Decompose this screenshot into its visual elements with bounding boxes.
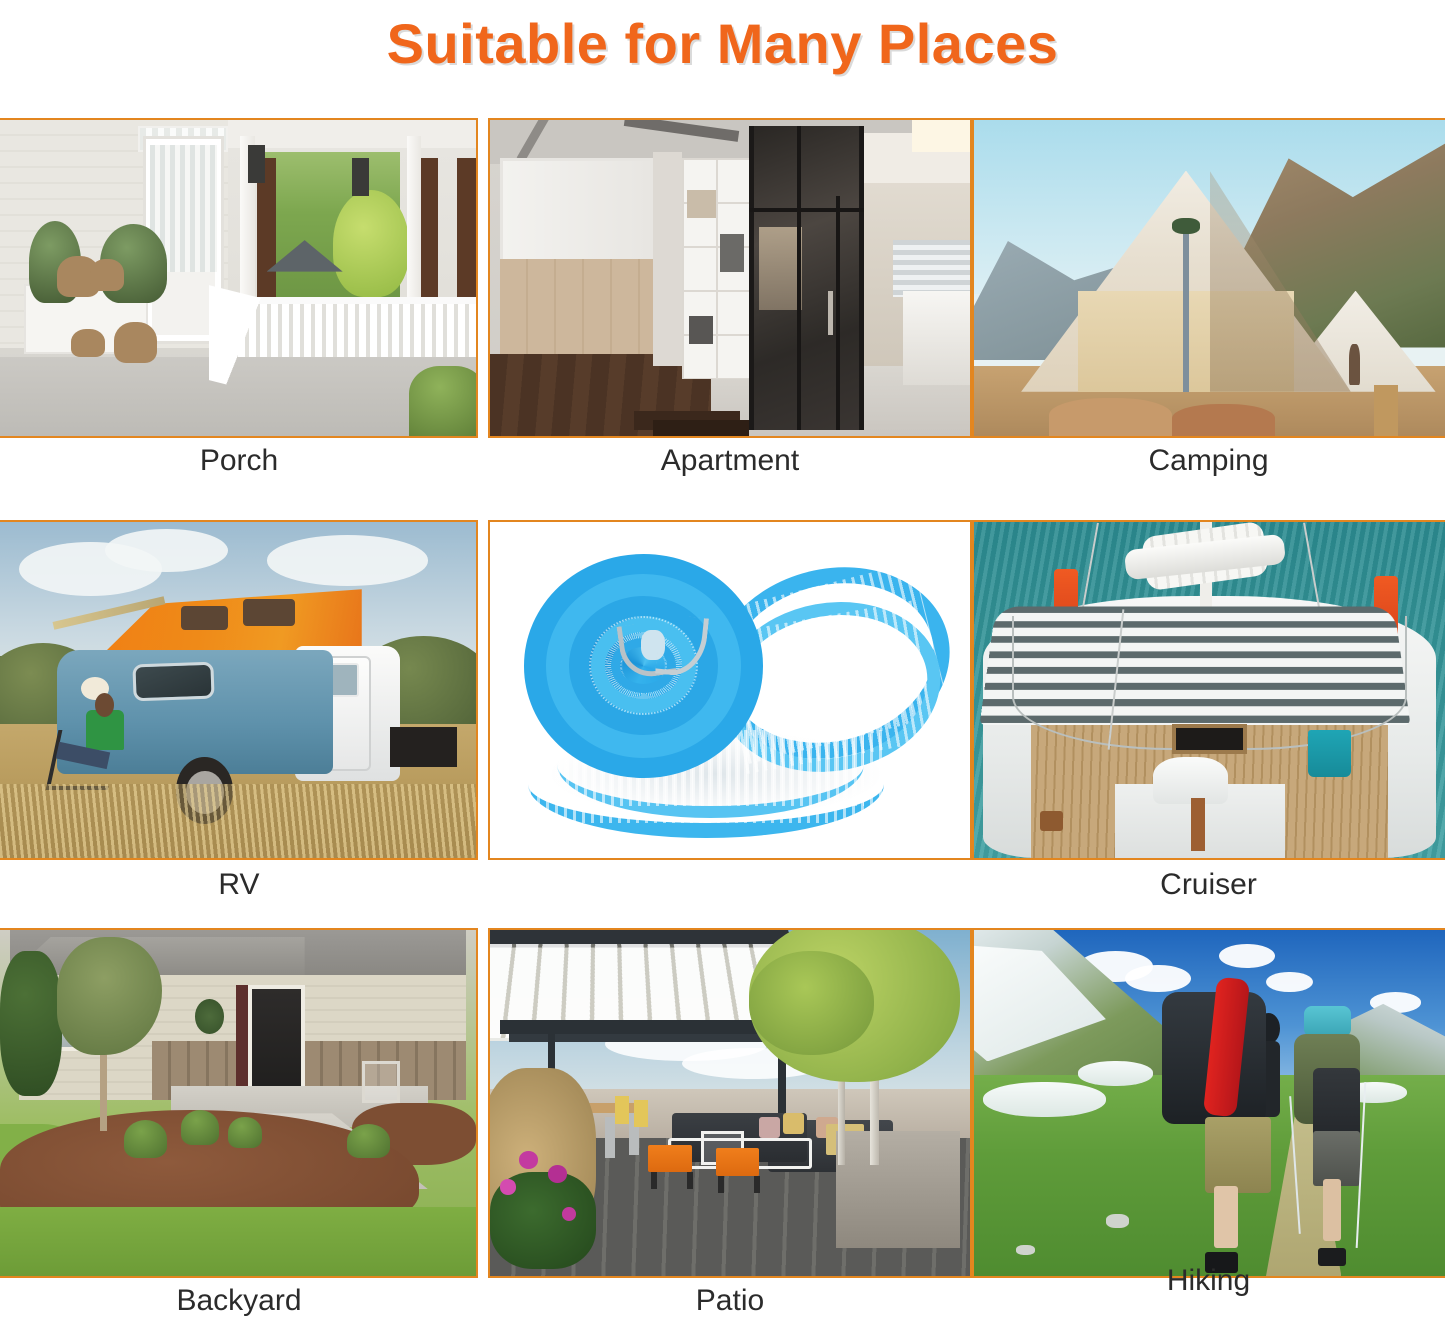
grid-row-1: Porch xyxy=(0,118,1445,438)
grid-row-3: Backyard xyxy=(0,928,1445,1278)
caption-apartment: Apartment xyxy=(488,444,972,478)
grid-cell-camping[interactable]: Camping xyxy=(972,118,1445,438)
patio-photo xyxy=(488,928,972,1278)
porch-photo xyxy=(0,118,478,438)
grid-row-2: RV xyxy=(0,520,1445,860)
cruiser-photo xyxy=(972,520,1445,860)
caption-camping: Camping xyxy=(972,444,1445,478)
product-photo xyxy=(488,520,972,860)
rv-photo xyxy=(0,520,478,860)
camping-photo xyxy=(972,118,1445,438)
product-infographic: Suitable for Many Places xyxy=(0,0,1445,1308)
scene-grid: Porch xyxy=(0,118,1445,1308)
caption-hiking: Hiking xyxy=(972,1264,1445,1298)
apartment-photo xyxy=(488,118,972,438)
caption-cruiser: Cruiser xyxy=(972,868,1445,902)
backyard-photo xyxy=(0,928,478,1278)
grid-cell-apartment[interactable]: Apartment xyxy=(488,118,972,438)
caption-porch: Porch xyxy=(0,444,478,478)
caption-patio: Patio xyxy=(488,1284,972,1318)
caption-backyard: Backyard xyxy=(0,1284,478,1318)
grid-cell-patio[interactable]: Patio xyxy=(488,928,972,1278)
hiking-photo xyxy=(972,928,1445,1278)
page-title: Suitable for Many Places xyxy=(387,11,1059,76)
caption-rv: RV xyxy=(0,868,478,902)
grid-cell-cruiser[interactable]: Cruiser xyxy=(972,520,1445,860)
grid-cell-product[interactable] xyxy=(488,520,972,860)
grid-cell-rv[interactable]: RV xyxy=(0,520,478,860)
grid-cell-porch[interactable]: Porch xyxy=(0,118,478,438)
grid-cell-hiking[interactable]: Hiking xyxy=(972,928,1445,1278)
page-header: Suitable for Many Places xyxy=(0,0,1445,86)
grid-cell-backyard[interactable]: Backyard xyxy=(0,928,478,1278)
